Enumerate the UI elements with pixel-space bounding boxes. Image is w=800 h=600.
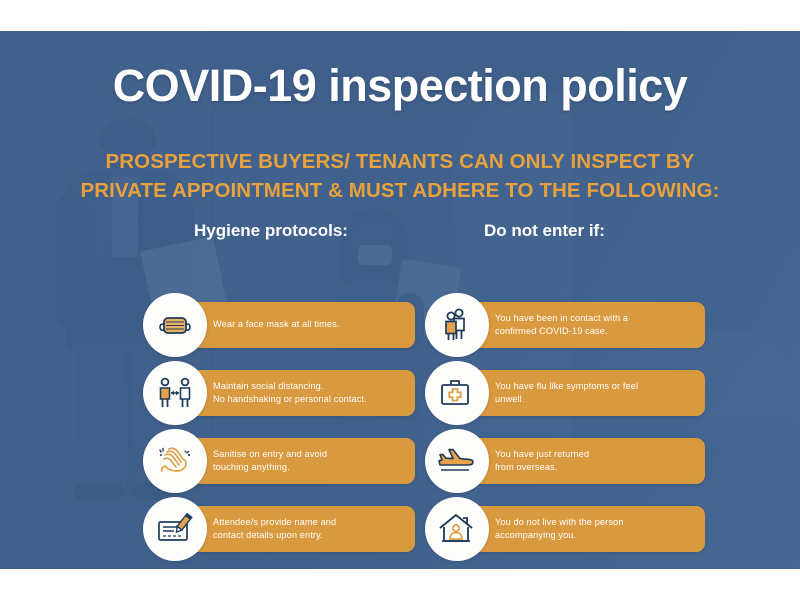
list-item[interactable]: You have been in contact with aconfirmed…	[425, 293, 755, 361]
social-distancing-icon	[143, 361, 207, 425]
column-heading-do-not-enter: Do not enter if:	[484, 221, 605, 241]
house-person-icon	[425, 497, 489, 561]
list-item[interactable]: You have just returnedfrom overseas.	[425, 429, 755, 497]
item-text: Maintain social distancing.No handshakin…	[189, 380, 367, 407]
item-text: Attendee/s provide name andcontact detai…	[189, 516, 336, 543]
airplane-icon	[425, 429, 489, 493]
form-pencil-icon	[143, 497, 207, 561]
item-bar: Attendee/s provide name andcontact detai…	[189, 506, 415, 552]
item-bar: You have flu like symptoms or feelunwell…	[471, 370, 705, 416]
list-item[interactable]: You do not live with the personaccompany…	[425, 497, 755, 565]
item-bar: Wear a face mask at all times.	[189, 302, 415, 348]
item-text: You do not live with the personaccompany…	[471, 516, 624, 543]
item-bar: You have just returnedfrom overseas.	[471, 438, 705, 484]
subtitle: PROSPECTIVE BUYERS/ TENANTS CAN ONLY INS…	[0, 147, 800, 205]
two-people-icon	[425, 293, 489, 357]
hand-washing-icon	[143, 429, 207, 493]
list-item[interactable]: Maintain social distancing.No handshakin…	[143, 361, 473, 429]
item-bar: You do not live with the personaccompany…	[471, 506, 705, 552]
page-title: COVID-19 inspection policy	[0, 60, 800, 112]
subtitle-line-1: PROSPECTIVE BUYERS/ TENANTS CAN ONLY INS…	[0, 147, 800, 176]
list-item[interactable]: You have flu like symptoms or feelunwell…	[425, 361, 755, 429]
item-bar: You have been in contact with aconfirmed…	[471, 302, 705, 348]
medical-kit-icon	[425, 361, 489, 425]
face-mask-icon	[143, 293, 207, 357]
subtitle-line-2: PRIVATE APPOINTMENT & MUST ADHERE TO THE…	[0, 176, 800, 205]
list-item[interactable]: Wear a face mask at all times.	[143, 293, 473, 361]
do-not-enter-list: You have been in contact with aconfirmed…	[425, 293, 755, 565]
item-text: Wear a face mask at all times.	[189, 318, 339, 331]
item-text: Sanitise on entry and avoidtouching anyt…	[189, 448, 327, 475]
item-bar: Maintain social distancing.No handshakin…	[189, 370, 415, 416]
column-heading-hygiene: Hygiene protocols:	[194, 221, 348, 241]
item-text: You have flu like symptoms or feelunwell…	[471, 380, 638, 407]
list-item[interactable]: Attendee/s provide name andcontact detai…	[143, 497, 473, 565]
item-bar: Sanitise on entry and avoidtouching anyt…	[189, 438, 415, 484]
poster-canvas: COVID-19 inspection policy PROSPECTIVE B…	[0, 31, 800, 569]
item-text: You have been in contact with aconfirmed…	[471, 312, 628, 339]
hygiene-protocol-list: Wear a face mask at all times. Maintain	[143, 293, 473, 565]
list-item[interactable]: Sanitise on entry and avoidtouching anyt…	[143, 429, 473, 497]
